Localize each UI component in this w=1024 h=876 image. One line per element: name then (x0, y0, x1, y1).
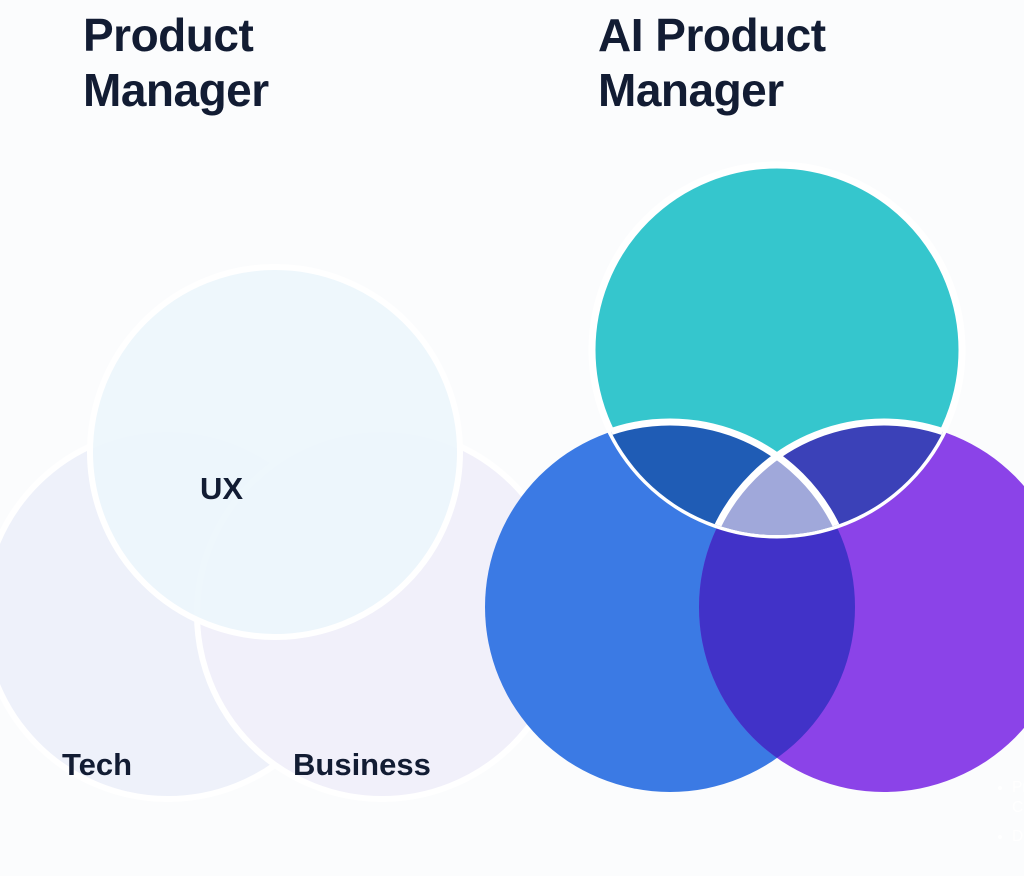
lobe-bullets-use-case-familiarity: Product and Capability Assessment Domain… (983, 778, 1024, 847)
page-title-product-manager: Product Manager (83, 8, 269, 118)
lobe-heading-use-case-familiarity: Use-Case Familiarity (983, 693, 1024, 764)
list-item: Domain Knowledge (997, 827, 1024, 847)
diagram-canvas: Product Manager AI Product Manager UX Te… (0, 0, 1024, 802)
list-item: Product and Capability Assessment (997, 778, 1024, 818)
venn-circle-ux (90, 267, 460, 637)
venn-content-use-case-familiarity: Use-Case Familiarity Product and Capabil… (983, 693, 1024, 856)
page-title-ai-product-manager: AI Product Manager (598, 8, 826, 118)
venn-diagram-ai-product-manager: Data and AI Fluency Understanding AI Tec… (478, 152, 1024, 802)
venn-diagram-product-manager: UX Tech Business (0, 152, 512, 802)
venn-label-ux: UX (200, 472, 243, 506)
venn-label-business: Business (293, 748, 431, 782)
venn-label-tech: Tech (62, 748, 132, 782)
